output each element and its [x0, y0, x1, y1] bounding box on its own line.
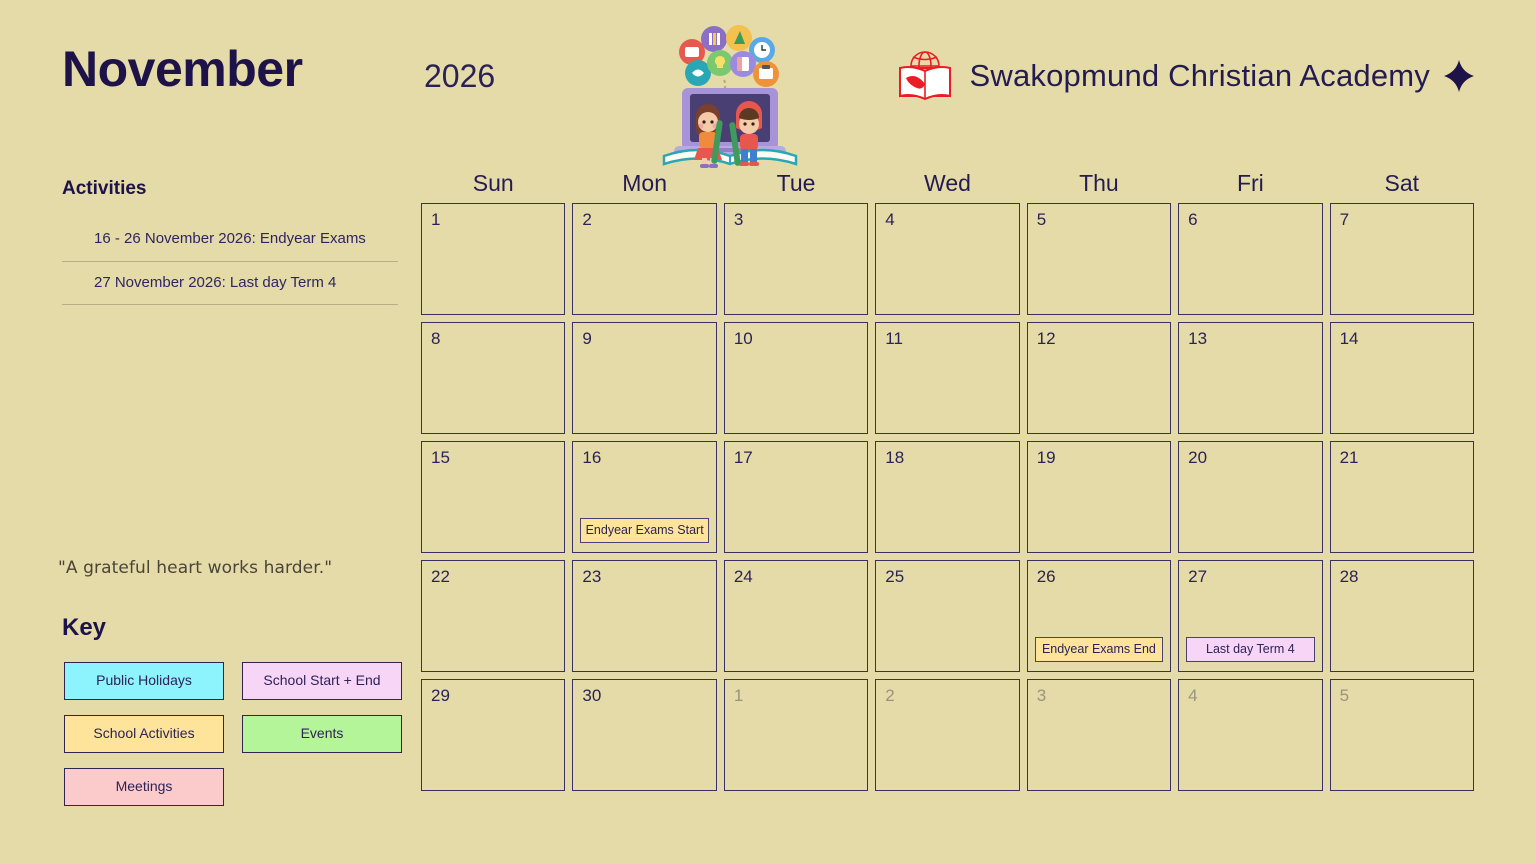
day-number: 2 — [885, 687, 1009, 704]
year-label: 2026 — [424, 60, 495, 92]
day-cell[interactable]: 2 — [875, 679, 1019, 791]
day-cell[interactable]: 10 — [724, 322, 868, 434]
weekday-header-row: Sun Mon Tue Wed Thu Fri Sat — [421, 170, 1474, 197]
day-number: 3 — [1037, 687, 1161, 704]
list-item: 16 - 26 November 2026: Endyear Exams — [62, 218, 398, 262]
day-cell[interactable]: 18 — [875, 441, 1019, 553]
day-number: 1 — [431, 211, 555, 228]
day-cell[interactable]: 5 — [1027, 203, 1171, 315]
day-number: 4 — [885, 211, 1009, 228]
day-number: 26 — [1037, 568, 1161, 585]
key-chip-events[interactable]: Events — [242, 715, 402, 753]
day-number: 21 — [1340, 449, 1464, 466]
day-number: 11 — [885, 330, 1009, 347]
list-item: 27 November 2026: Last day Term 4 — [62, 262, 398, 306]
day-number: 2 — [582, 211, 706, 228]
day-number: 6 — [1188, 211, 1312, 228]
day-number: 8 — [431, 330, 555, 347]
day-cell[interactable]: 26Endyear Exams End — [1027, 560, 1171, 672]
day-number: 13 — [1188, 330, 1312, 347]
day-number: 24 — [734, 568, 858, 585]
day-cell[interactable]: 6 — [1178, 203, 1322, 315]
day-number: 4 — [1188, 687, 1312, 704]
four-point-star-icon — [1444, 60, 1474, 92]
day-number: 18 — [885, 449, 1009, 466]
day-cell[interactable]: 4 — [875, 203, 1019, 315]
weekday-label-mon: Mon — [572, 170, 716, 197]
page-title: November — [62, 44, 303, 94]
key-chip-school-start-end[interactable]: School Start + End — [242, 662, 402, 700]
day-cell[interactable]: 29 — [421, 679, 565, 791]
day-cell[interactable]: 7 — [1330, 203, 1474, 315]
day-number: 30 — [582, 687, 706, 704]
calendar: Sun Mon Tue Wed Thu Fri Sat 123456789101… — [421, 170, 1474, 791]
day-number: 27 — [1188, 568, 1312, 585]
day-number: 5 — [1340, 687, 1464, 704]
quote-text: "A grateful heart works harder." — [58, 558, 418, 578]
day-cell[interactable]: 22 — [421, 560, 565, 672]
day-cell[interactable]: 19 — [1027, 441, 1171, 553]
day-number: 25 — [885, 568, 1009, 585]
day-number: 7 — [1340, 211, 1464, 228]
day-number: 9 — [582, 330, 706, 347]
key-heading: Key — [62, 614, 106, 642]
day-cell[interactable]: 9 — [572, 322, 716, 434]
key-legend: Public Holidays School Start + End Schoo… — [64, 662, 404, 806]
page-header: November 2026 — [0, 0, 1536, 180]
day-number: 23 — [582, 568, 706, 585]
day-number: 28 — [1340, 568, 1464, 585]
key-chip-public-holidays[interactable]: Public Holidays — [64, 662, 224, 700]
day-cell[interactable]: 30 — [572, 679, 716, 791]
weekday-label-sat: Sat — [1330, 170, 1474, 197]
day-number: 14 — [1340, 330, 1464, 347]
day-cell[interactable]: 13 — [1178, 322, 1322, 434]
day-cell[interactable]: 25 — [875, 560, 1019, 672]
weekday-label-sun: Sun — [421, 170, 565, 197]
day-number: 12 — [1037, 330, 1161, 347]
day-cell[interactable]: 14 — [1330, 322, 1474, 434]
day-number: 17 — [734, 449, 858, 466]
day-cell[interactable]: 12 — [1027, 322, 1171, 434]
day-grid: 12345678910111213141516Endyear Exams Sta… — [421, 203, 1474, 791]
day-number: 3 — [734, 211, 858, 228]
weekday-label-tue: Tue — [724, 170, 868, 197]
activities-heading: Activities — [62, 178, 398, 200]
weekday-label-wed: Wed — [875, 170, 1019, 197]
day-number: 15 — [431, 449, 555, 466]
day-cell[interactable]: 21 — [1330, 441, 1474, 553]
day-number: 16 — [582, 449, 706, 466]
event-badge[interactable]: Last day Term 4 — [1186, 637, 1314, 663]
day-cell[interactable]: 15 — [421, 441, 565, 553]
day-cell[interactable]: 11 — [875, 322, 1019, 434]
day-number: 10 — [734, 330, 858, 347]
key-chip-school-activities[interactable]: School Activities — [64, 715, 224, 753]
day-cell[interactable]: 23 — [572, 560, 716, 672]
day-number: 22 — [431, 568, 555, 585]
day-number: 20 — [1188, 449, 1312, 466]
day-cell[interactable]: 17 — [724, 441, 868, 553]
day-cell[interactable]: 20 — [1178, 441, 1322, 553]
activities-list: 16 - 26 November 2026: Endyear Exams 27 … — [62, 218, 398, 305]
sidebar: Activities 16 - 26 November 2026: Endyea… — [62, 178, 398, 818]
school-name-label: Swakopmund Christian Academy — [970, 58, 1431, 94]
day-number: 29 — [431, 687, 555, 704]
day-number: 1 — [734, 687, 858, 704]
key-chip-meetings[interactable]: Meetings — [64, 768, 224, 806]
weekday-label-thu: Thu — [1027, 170, 1171, 197]
day-number: 19 — [1037, 449, 1161, 466]
weekday-label-fri: Fri — [1178, 170, 1322, 197]
day-cell[interactable]: 27Last day Term 4 — [1178, 560, 1322, 672]
school-identity: Swakopmund Christian Academy — [894, 46, 1475, 106]
day-cell[interactable]: 1 — [421, 203, 565, 315]
day-cell[interactable]: 28 — [1330, 560, 1474, 672]
day-cell[interactable]: 1 — [724, 679, 868, 791]
day-cell[interactable]: 5 — [1330, 679, 1474, 791]
kids-laptop-book-illustration — [652, 16, 808, 168]
day-cell[interactable]: 8 — [421, 322, 565, 434]
day-cell[interactable]: 2 — [572, 203, 716, 315]
day-cell[interactable]: 4 — [1178, 679, 1322, 791]
globe-book-logo-icon — [894, 48, 956, 104]
day-cell[interactable]: 16Endyear Exams Start — [572, 441, 716, 553]
day-number: 5 — [1037, 211, 1161, 228]
day-cell[interactable]: 3 — [1027, 679, 1171, 791]
day-cell[interactable]: 3 — [724, 203, 868, 315]
event-badge[interactable]: Endyear Exams Start — [580, 518, 708, 544]
day-cell[interactable]: 24 — [724, 560, 868, 672]
event-badge[interactable]: Endyear Exams End — [1035, 637, 1163, 663]
